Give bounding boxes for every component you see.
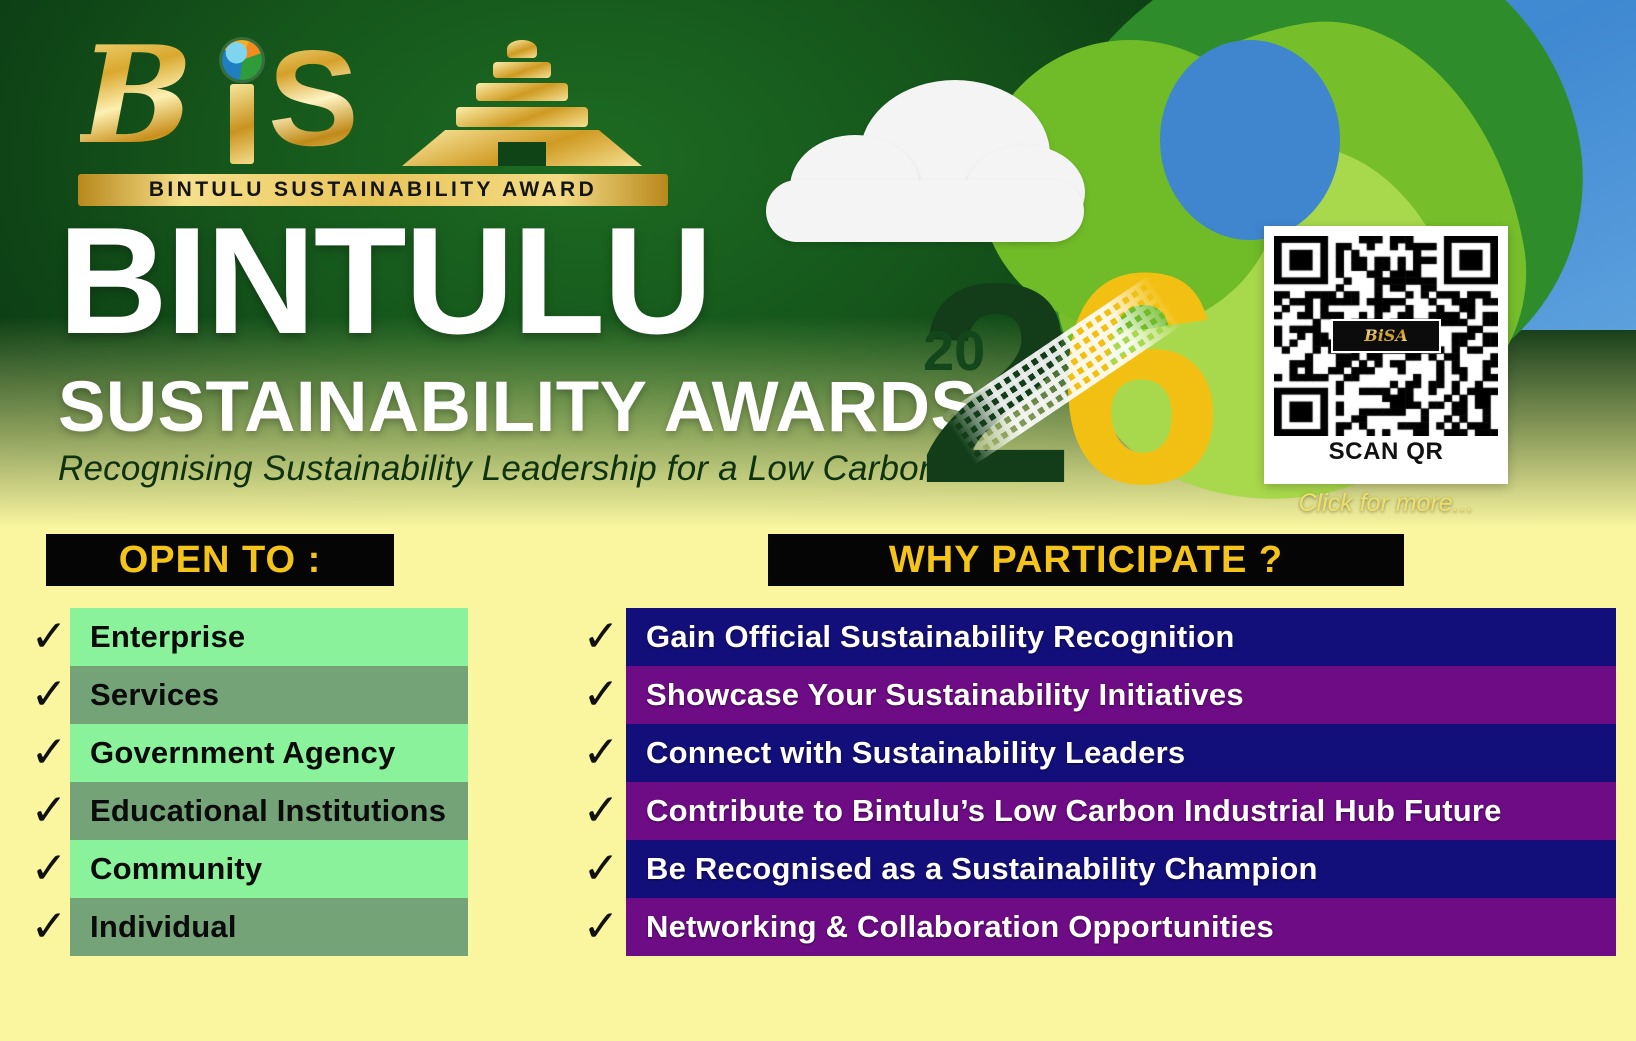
open-to-heading-bar: OPEN TO : (46, 534, 394, 586)
check-icon: ✓ (570, 898, 632, 956)
open-to-list: ✓Enterprise✓Services✓Government Agency✓E… (18, 608, 468, 956)
qr-center-logo-text: BiSA (1364, 328, 1408, 344)
why-participate-list-item-label: Showcase Your Sustainability Initiatives (646, 666, 1244, 724)
year-prefix-20: 20 (923, 318, 985, 383)
logo-letter-i-icon (230, 84, 254, 164)
why-participate-list-item: ✓Showcase Your Sustainability Initiative… (570, 666, 1616, 724)
open-to-list-item-label: Services (90, 666, 219, 724)
open-to-list-item-label: Individual (90, 898, 237, 956)
why-participate-list-item: ✓Networking & Collaboration Opportunitie… (570, 898, 1616, 956)
open-to-list-item-label: Community (90, 840, 262, 898)
open-to-list-item: ✓Services (18, 666, 468, 724)
why-participate-list-item: ✓Connect with Sustainability Leaders (570, 724, 1616, 782)
why-participate-list-item-label: Gain Official Sustainability Recognition (646, 608, 1234, 666)
why-participate-list-item-label: Be Recognised as a Sustainability Champi… (646, 840, 1318, 898)
why-participate-list-item-label: Contribute to Bintulu’s Low Carbon Indus… (646, 782, 1502, 840)
logo-pagoda-a-icon (402, 38, 642, 166)
qr-code-card[interactable]: BiSA SCAN QR (1264, 226, 1508, 484)
why-participate-heading-text: WHY PARTICIPATE ? (889, 539, 1283, 582)
why-participate-heading-bar: WHY PARTICIPATE ? (768, 534, 1404, 586)
open-to-list-item-label: Government Agency (90, 724, 395, 782)
open-to-list-item-label: Educational Institutions (90, 782, 446, 840)
bisa-logo: B S BINTULU SUSTAINABILITY AWARD (72, 22, 672, 212)
check-icon: ✓ (18, 782, 80, 840)
why-participate-list-item: ✓Contribute to Bintulu’s Low Carbon Indu… (570, 782, 1616, 840)
check-icon: ✓ (18, 724, 80, 782)
qr-click-for-more-link[interactable]: Click for more... (1264, 489, 1508, 518)
check-icon: ✓ (570, 666, 632, 724)
check-icon: ✓ (570, 782, 632, 840)
check-icon: ✓ (570, 608, 632, 666)
check-icon: ✓ (18, 666, 80, 724)
why-participate-list-item: ✓Be Recognised as a Sustainability Champ… (570, 840, 1616, 898)
check-icon: ✓ (570, 724, 632, 782)
check-icon: ✓ (18, 898, 80, 956)
qr-code-image[interactable]: BiSA (1274, 236, 1498, 436)
open-to-heading-text: OPEN TO : (119, 539, 322, 582)
open-to-list-item: ✓Enterprise (18, 608, 468, 666)
qr-center-logo: BiSA (1331, 319, 1441, 353)
globe-icon (222, 40, 262, 80)
open-to-list-item-label: Enterprise (90, 608, 245, 666)
qr-caption: SCAN QR (1274, 438, 1498, 466)
check-icon: ✓ (18, 840, 80, 898)
why-participate-list-item-label: Connect with Sustainability Leaders (646, 724, 1185, 782)
cloud-icon (760, 80, 1090, 240)
open-to-list-item: ✓Community (18, 840, 468, 898)
check-icon: ✓ (18, 608, 80, 666)
open-to-list-item: ✓Individual (18, 898, 468, 956)
logo-letter-b-icon: B (80, 28, 193, 162)
open-to-list-item: ✓Government Agency (18, 724, 468, 782)
logo-letter-s-icon: S (268, 30, 359, 166)
year-badge-2026: 6 2 20 (905, 232, 1235, 522)
why-participate-list: ✓Gain Official Sustainability Recognitio… (570, 608, 1616, 956)
check-icon: ✓ (570, 840, 632, 898)
why-participate-list-item: ✓Gain Official Sustainability Recognitio… (570, 608, 1616, 666)
poster-root: B S BINTULU SUSTAINABILITY AWARD BINTULU… (0, 0, 1636, 1041)
open-to-list-item: ✓Educational Institutions (18, 782, 468, 840)
why-participate-list-item-label: Networking & Collaboration Opportunities (646, 898, 1274, 956)
bisa-logo-mark: B S (72, 22, 672, 172)
